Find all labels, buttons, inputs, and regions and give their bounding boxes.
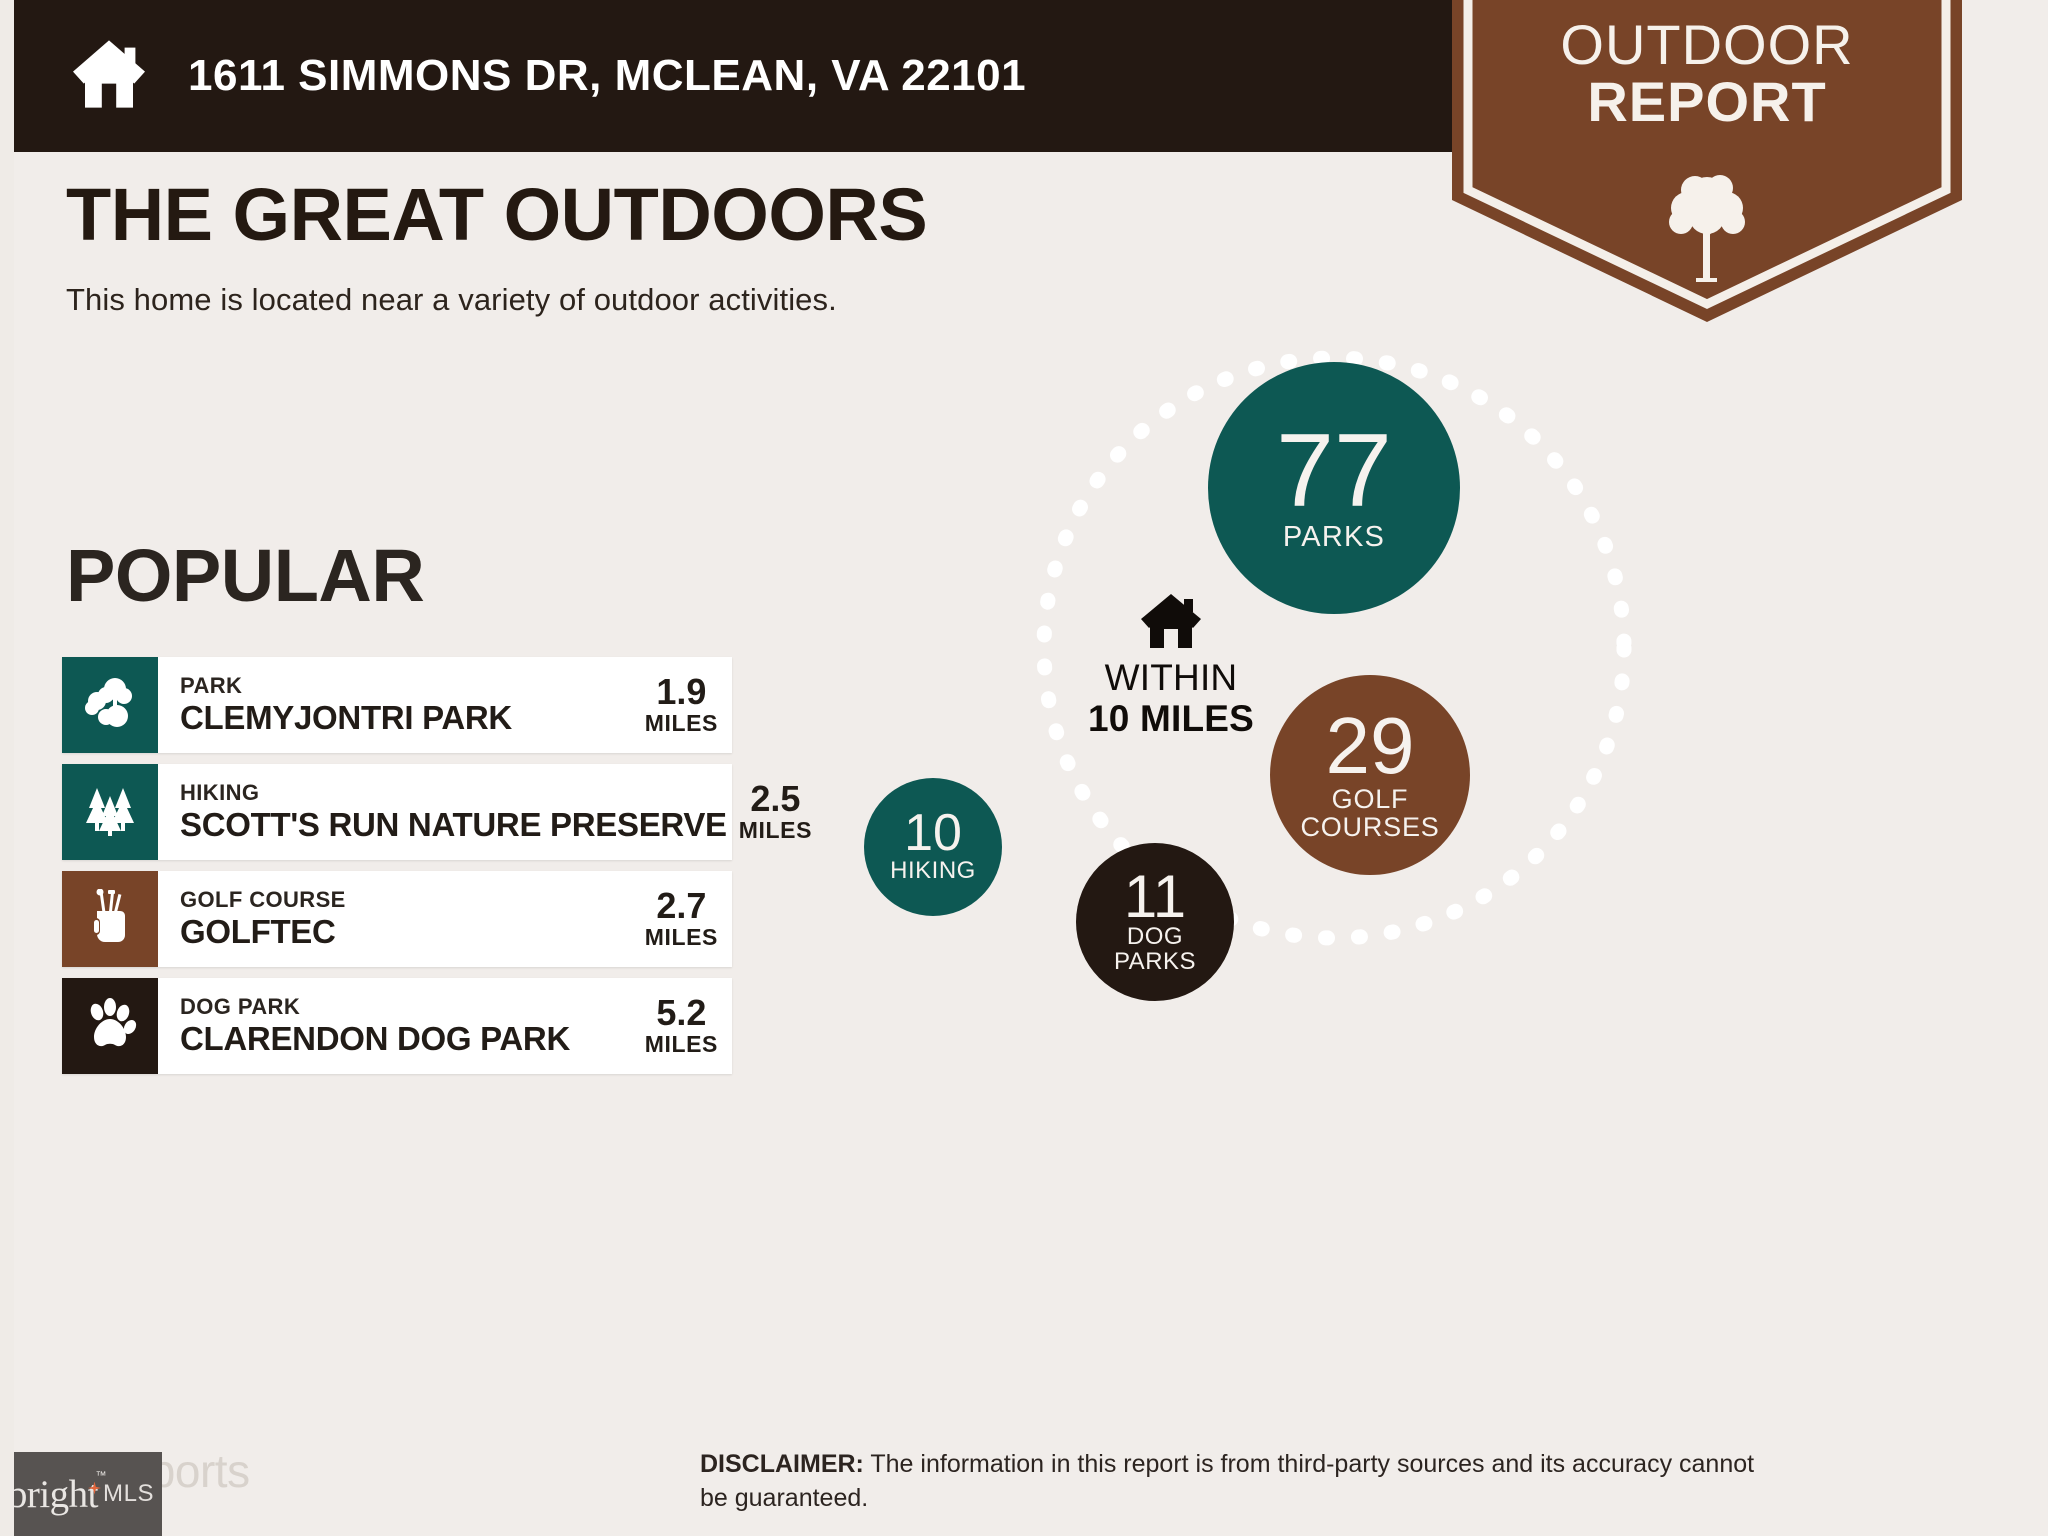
row-distance-value: 1.9 xyxy=(645,673,718,711)
stat-label-golf-courses-line1: GOLF xyxy=(1332,785,1409,813)
tree-icon xyxy=(1665,170,1749,282)
stat-label-golf-courses-line2: COURSES xyxy=(1300,813,1439,841)
stat-value-golf-courses: 29 xyxy=(1326,709,1415,783)
title-block: THE GREAT OUTDOORS This home is located … xyxy=(66,178,927,318)
popular-list: PARK CLEMYJONTRI PARK 1.9 MILES xyxy=(62,657,732,1085)
park-trees-icon xyxy=(82,675,138,736)
stat-circle-parks[interactable]: 77 PARKS xyxy=(1208,362,1460,614)
within-label-line2: 10 MILES xyxy=(1036,698,1306,739)
row-name: SCOTT'S RUN NATURE PRESERVE xyxy=(180,806,727,844)
row-distance-unit: MILES xyxy=(645,711,718,736)
list-item[interactable]: PARK CLEMYJONTRI PARK 1.9 MILES xyxy=(62,657,732,753)
popular-heading: POPULAR xyxy=(66,533,424,618)
pine-trees-icon xyxy=(82,782,138,843)
row-distance-unit: MILES xyxy=(645,1032,718,1057)
row-name: GOLFTEC xyxy=(180,913,346,951)
stat-label-dog-parks-line1: DOG xyxy=(1127,925,1183,950)
stat-label-parks: PARKS xyxy=(1283,522,1385,552)
row-icon-park xyxy=(62,657,158,753)
page-subtitle: This home is located near a variety of o… xyxy=(66,282,927,318)
disclaimer: DISCLAIMER: The information in this repo… xyxy=(700,1447,1760,1515)
row-distance-value: 2.7 xyxy=(645,887,718,925)
row-body: DOG PARK CLARENDON DOG PARK 5.2 MILES xyxy=(158,978,732,1074)
stat-circle-dog-parks[interactable]: 11 DOG PARKS xyxy=(1076,843,1234,1001)
page-title: THE GREAT OUTDOORS xyxy=(66,178,927,252)
row-labels: GOLF COURSE GOLFTEC xyxy=(180,887,346,950)
house-icon xyxy=(70,38,148,115)
row-category: GOLF COURSE xyxy=(180,887,346,912)
stat-value-hiking: 10 xyxy=(904,810,962,858)
row-distance: 2.5 MILES xyxy=(727,780,812,843)
stat-value-parks: 77 xyxy=(1276,424,1392,520)
left-edge-strip xyxy=(0,0,14,1536)
golf-bag-icon xyxy=(82,889,138,950)
outdoor-report-badge: OUTDOOR REPORT xyxy=(1452,0,1962,322)
row-name: CLARENDON DOG PARK xyxy=(180,1020,570,1058)
row-category: DOG PARK xyxy=(180,994,570,1019)
property-address: 1611 SIMMONS DR, MCLEAN, VA 22101 xyxy=(188,51,1026,101)
stat-label-dog-parks-line2: PARKS xyxy=(1114,950,1196,975)
stat-circle-hiking[interactable]: 10 HIKING xyxy=(864,778,1002,916)
logo-suffix-text: MLS xyxy=(103,1480,154,1508)
row-icon-dog-park xyxy=(62,978,158,1074)
row-labels: PARK CLEMYJONTRI PARK xyxy=(180,673,512,736)
stat-label-hiking: HIKING xyxy=(890,859,976,884)
amenities-diagram: 77 PARKS 29 GOLF COURSES 11 DOG PARKS 10… xyxy=(820,330,2048,1090)
list-item[interactable]: HIKING SCOTT'S RUN NATURE PRESERVE 2.5 M… xyxy=(62,764,732,860)
row-distance: 1.9 MILES xyxy=(633,673,718,736)
logo-brand-word: bright xyxy=(8,1473,98,1516)
outdoor-report-page: 1611 SIMMONS DR, MCLEAN, VA 22101 OUTDOO… xyxy=(0,0,2048,1536)
diagram-center-info: WITHIN 10 MILES xyxy=(1036,592,1306,739)
row-distance: 2.7 MILES xyxy=(633,887,718,950)
row-distance-value: 2.5 xyxy=(739,780,812,818)
bright-mls-logo: bright ™ MLS xyxy=(0,1452,162,1536)
row-distance-value: 5.2 xyxy=(645,994,718,1032)
row-labels: HIKING SCOTT'S RUN NATURE PRESERVE xyxy=(180,780,727,843)
row-distance: 5.2 MILES xyxy=(633,994,718,1057)
header-bar: 1611 SIMMONS DR, MCLEAN, VA 22101 xyxy=(0,0,1470,152)
row-labels: DOG PARK CLARENDON DOG PARK xyxy=(180,994,570,1057)
row-body: PARK CLEMYJONTRI PARK 1.9 MILES xyxy=(158,657,732,753)
trademark-symbol: ™ xyxy=(96,1470,107,1482)
row-body: GOLF COURSE GOLFTEC 2.7 MILES xyxy=(158,871,732,967)
list-item[interactable]: DOG PARK CLARENDON DOG PARK 5.2 MILES xyxy=(62,978,732,1074)
within-label-line1: WITHIN xyxy=(1036,658,1306,698)
row-distance-unit: MILES xyxy=(739,818,812,843)
stat-value-dog-parks: 11 xyxy=(1124,869,1186,924)
row-icon-hiking xyxy=(62,764,158,860)
logo-brand-text: bright ™ xyxy=(8,1472,98,1517)
row-icon-golf xyxy=(62,871,158,967)
disclaimer-label: DISCLAIMER: xyxy=(700,1450,864,1478)
row-distance-unit: MILES xyxy=(645,925,718,950)
paw-print-icon xyxy=(82,996,138,1057)
row-category: HIKING xyxy=(180,780,727,805)
house-icon xyxy=(1036,592,1306,650)
row-category: PARK xyxy=(180,673,512,698)
row-name: CLEMYJONTRI PARK xyxy=(180,699,512,737)
list-item[interactable]: GOLF COURSE GOLFTEC 2.7 MILES xyxy=(62,871,732,967)
row-body: HIKING SCOTT'S RUN NATURE PRESERVE 2.5 M… xyxy=(158,764,826,860)
